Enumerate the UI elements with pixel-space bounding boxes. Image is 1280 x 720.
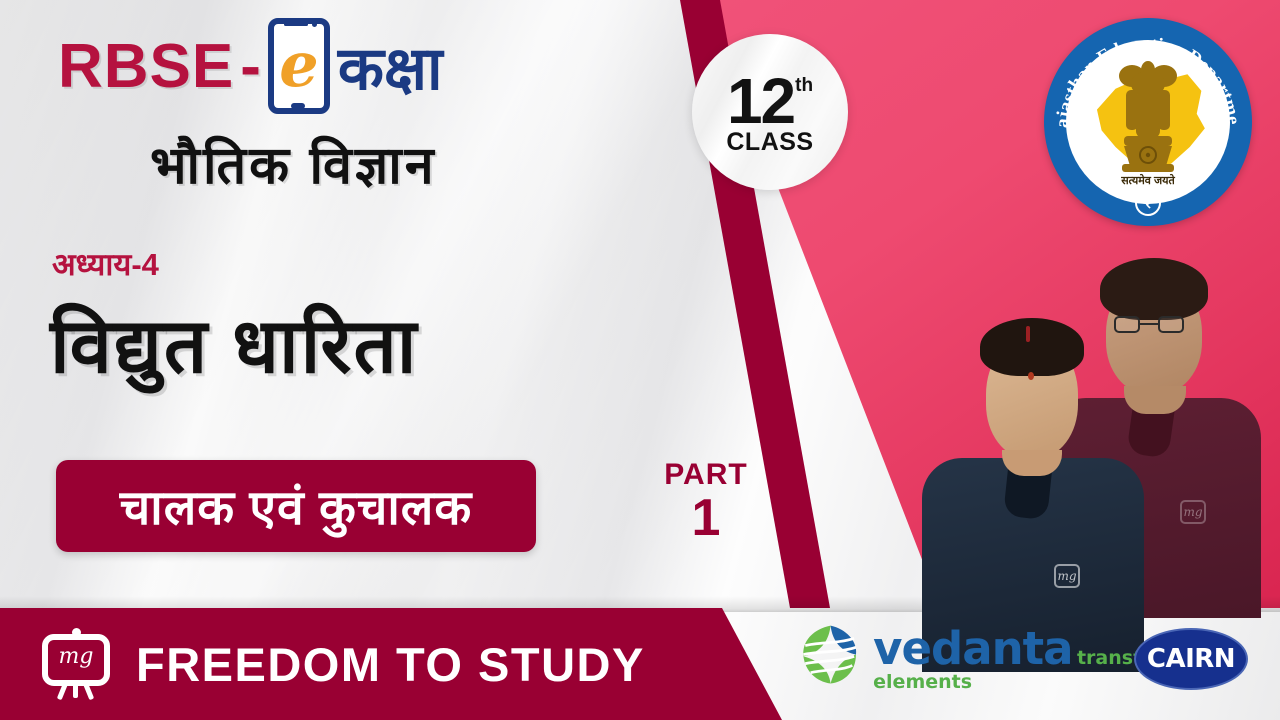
female-teacher-sindoor [1026,326,1030,342]
class-number-suffix: th [795,77,813,94]
logo-motto: सत्यमेव जयते [1066,173,1230,188]
class-number-wrap: 12 th [727,73,813,131]
footer-tagline: FREEDOM TO STUDY [136,637,645,692]
part-indicator: PART 1 [640,458,772,543]
rajasthan-education-department-logo: Rajasthan Education Department [1044,18,1252,226]
part-label: PART [640,458,772,492]
smartphone-icon: e [268,18,330,114]
smartphone-camera-dot [312,22,317,27]
cairn-name: CAIRN [1147,644,1235,674]
footer-bar: mg FREEDOM TO STUDY [0,608,800,720]
vedanta-globe-icon [798,622,863,694]
smartphone-home-button [291,103,305,109]
female-teacher-hair [980,318,1084,376]
male-teacher-neck [1124,386,1186,414]
female-teacher-shirt-badge: mg [1054,564,1080,588]
topic-banner: चालक एवं कुचालक [56,460,536,552]
slide-canvas: RBSE - e कक्षा भौतिक विज्ञान 12 th CLASS… [0,0,1280,720]
mg-leg-center [73,682,78,698]
brand-header: RBSE - e कक्षा [58,18,443,114]
class-number: 12 [727,73,794,131]
vedanta-name: vedanta [873,622,1072,675]
mg-logo-icon: mg [38,626,114,702]
subject-title: भौतिक विज्ञान [150,128,437,199]
chapter-number: अध्याय-4 [52,243,159,285]
brand-separator: - [240,31,262,102]
mg-logo-text: mg [38,644,114,669]
chapter-title: विद्युत धारिता [50,292,418,395]
smartphone-speaker [284,23,308,26]
mg-board-knob [72,628,81,637]
class-badge: 12 th CLASS [692,34,848,190]
topic-label: चालक एवं कुचालक [120,474,472,539]
class-word: CLASS [726,128,813,157]
male-teacher-shirt-badge: mg [1180,500,1206,524]
sponsor-cairn: CAIRN [1134,628,1248,690]
male-teacher-hair [1100,258,1208,320]
e-letter: e [268,28,330,102]
kaksha-label: कक्षा [338,25,443,107]
eyeglasses-icon [1112,316,1198,336]
logo-bottom-badge: र [1135,190,1161,216]
teachers-photo: mg mg [940,240,1280,608]
female-teacher-bindi [1028,372,1034,380]
part-number: 1 [640,494,772,543]
board-name: RBSE [58,31,234,102]
logo-inner-disc: सत्यमेव जयते [1066,40,1230,204]
